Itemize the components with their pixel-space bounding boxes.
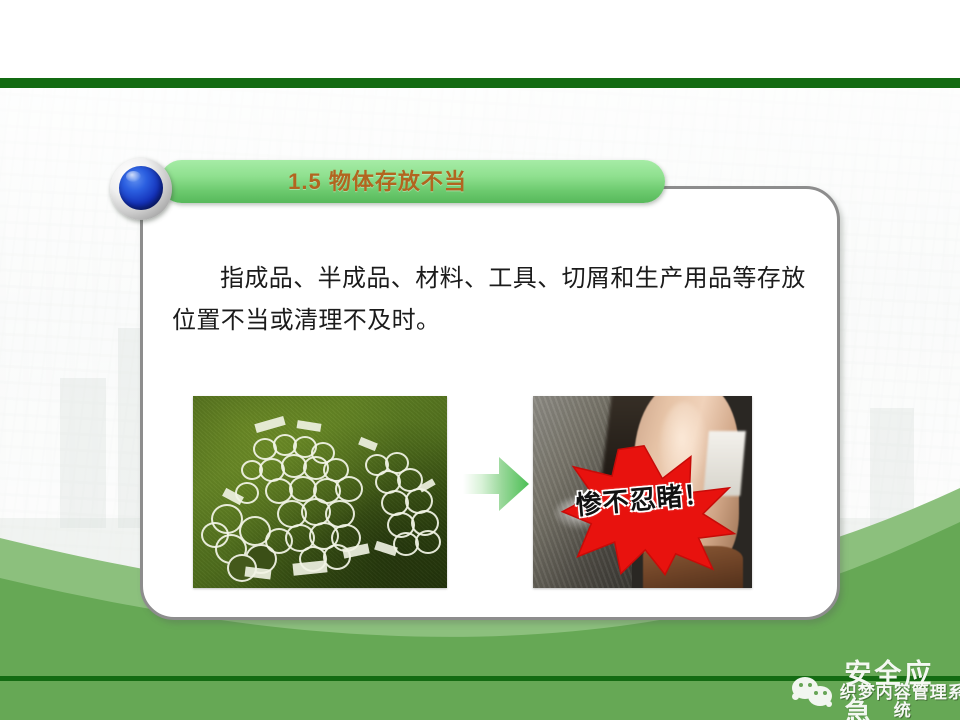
green-right-arrow-icon <box>461 452 531 516</box>
watermark-cn: 织梦内容管理系统 <box>838 684 960 720</box>
injured-foot-photo: 惨不忍睹！ <box>533 396 752 588</box>
body-line-2: 位置不当或清理不及时。 <box>172 300 812 342</box>
orb-highlight <box>126 171 141 182</box>
photo-rings-layer <box>193 396 447 588</box>
site-watermark: 织梦内容管理系统 DEDECMS.COM <box>838 684 960 720</box>
slide-canvas: 1.5 物体存放不当 指成品、半成品、材料、工具、切屑和生产用品等存放 位置不当… <box>0 0 960 720</box>
section-title-text: 1.5 物体存放不当 <box>160 160 665 203</box>
body-line-1: 指成品、半成品、材料、工具、切屑和生产用品等存放 <box>172 258 812 300</box>
blue-orb-bullet-icon <box>110 158 172 220</box>
top-white-band <box>0 0 960 78</box>
body-line-1-text: 指成品、半成品、材料、工具、切屑和生产用品等存放 <box>220 265 806 292</box>
orb-blue-sphere <box>119 166 163 210</box>
scattered-parts-photo <box>193 396 447 588</box>
top-green-rule <box>0 78 960 88</box>
wechat-icon <box>792 675 834 707</box>
body-paragraph: 指成品、半成品、材料、工具、切屑和生产用品等存放 位置不当或清理不及时。 <box>172 258 812 342</box>
section-title-pill: 1.5 物体存放不当 <box>160 160 665 203</box>
